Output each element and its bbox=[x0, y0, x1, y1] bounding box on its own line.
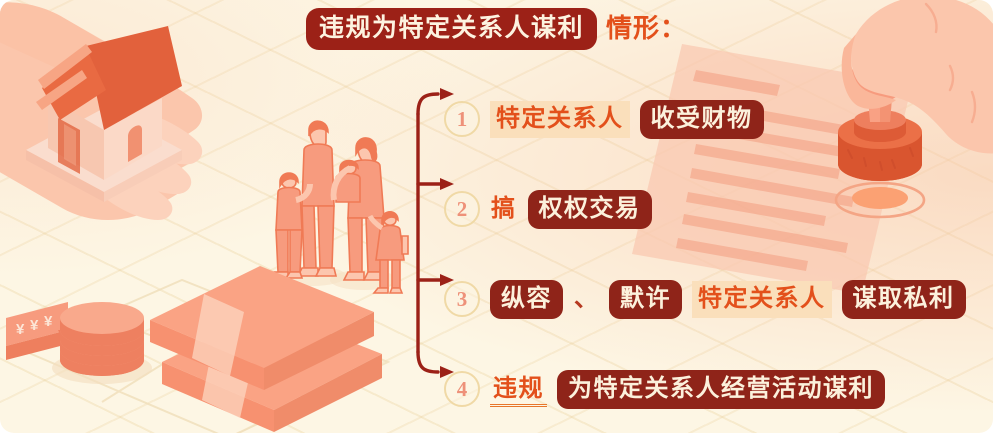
item-segment-pill: 默许 bbox=[609, 280, 682, 319]
svg-text:¥: ¥ bbox=[16, 321, 25, 338]
items-list: 1特定关系人收受财物2搞权权交易3纵容、默许特定关系人谋取私利4违规为特定关系人… bbox=[444, 74, 984, 433]
item-segment-hl: 特定关系人 bbox=[490, 101, 630, 138]
item-segment-pill: 纵容 bbox=[490, 280, 563, 319]
item-number-badge: 2 bbox=[444, 191, 480, 227]
infographic-canvas: ¥ ¥ ¥ bbox=[0, 0, 993, 433]
money-stacks-illustration: ¥ ¥ ¥ bbox=[0, 242, 412, 433]
item-segment-dbl: 违规 bbox=[490, 371, 547, 407]
page-title-pill: 违规为特定关系人谋利 bbox=[306, 8, 597, 50]
item-segment-plain: 搞 bbox=[490, 191, 518, 228]
svg-text:¥: ¥ bbox=[44, 313, 53, 330]
item-number-badge: 3 bbox=[444, 281, 480, 317]
svg-text:¥: ¥ bbox=[30, 317, 39, 334]
item-segment-pill: 收受财物 bbox=[640, 100, 764, 139]
item-segment-hl: 特定关系人 bbox=[692, 281, 832, 318]
item-segment-pill: 权权交易 bbox=[528, 190, 652, 229]
item-segment-sep: 、 bbox=[573, 281, 599, 318]
list-item: 4违规为特定关系人经营活动谋利 bbox=[444, 344, 984, 433]
family-group-illustration bbox=[266, 108, 416, 298]
list-item: 1特定关系人收受财物 bbox=[444, 74, 984, 164]
list-item: 3纵容、默许特定关系人谋取私利 bbox=[444, 254, 984, 344]
page-title-suffix: 情形： bbox=[606, 16, 687, 42]
item-number-badge: 4 bbox=[444, 371, 480, 407]
item-segment-pill: 为特定关系人经营活动谋利 bbox=[557, 370, 885, 409]
item-segment-pill: 谋取私利 bbox=[842, 280, 966, 319]
header: 违规为特定关系人谋利 情形： bbox=[0, 8, 993, 50]
list-item: 2搞权权交易 bbox=[444, 164, 984, 254]
item-number-badge: 1 bbox=[444, 101, 480, 137]
